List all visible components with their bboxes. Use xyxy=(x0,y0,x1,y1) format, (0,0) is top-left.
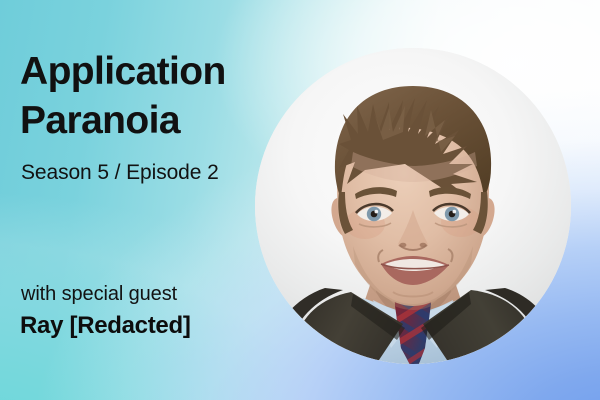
title-line-2: Paranoia xyxy=(20,96,226,145)
guest-name: Ray [Redacted] xyxy=(20,311,191,341)
podcast-episode-card: Application Paranoia Season 5 / Episode … xyxy=(0,0,600,400)
text-block: Application Paranoia Season 5 / Episode … xyxy=(20,0,270,400)
nostril-right xyxy=(420,243,427,248)
page-title: Application Paranoia xyxy=(20,47,226,145)
title-line-1: Application xyxy=(20,50,226,93)
episode-subtitle: Season 5 / Episode 2 xyxy=(21,160,219,186)
guest-label: with special guest xyxy=(21,282,177,307)
guest-headshot-illustration xyxy=(255,48,571,364)
nostril-left xyxy=(400,243,407,248)
guest-portrait-avatar xyxy=(255,48,571,364)
